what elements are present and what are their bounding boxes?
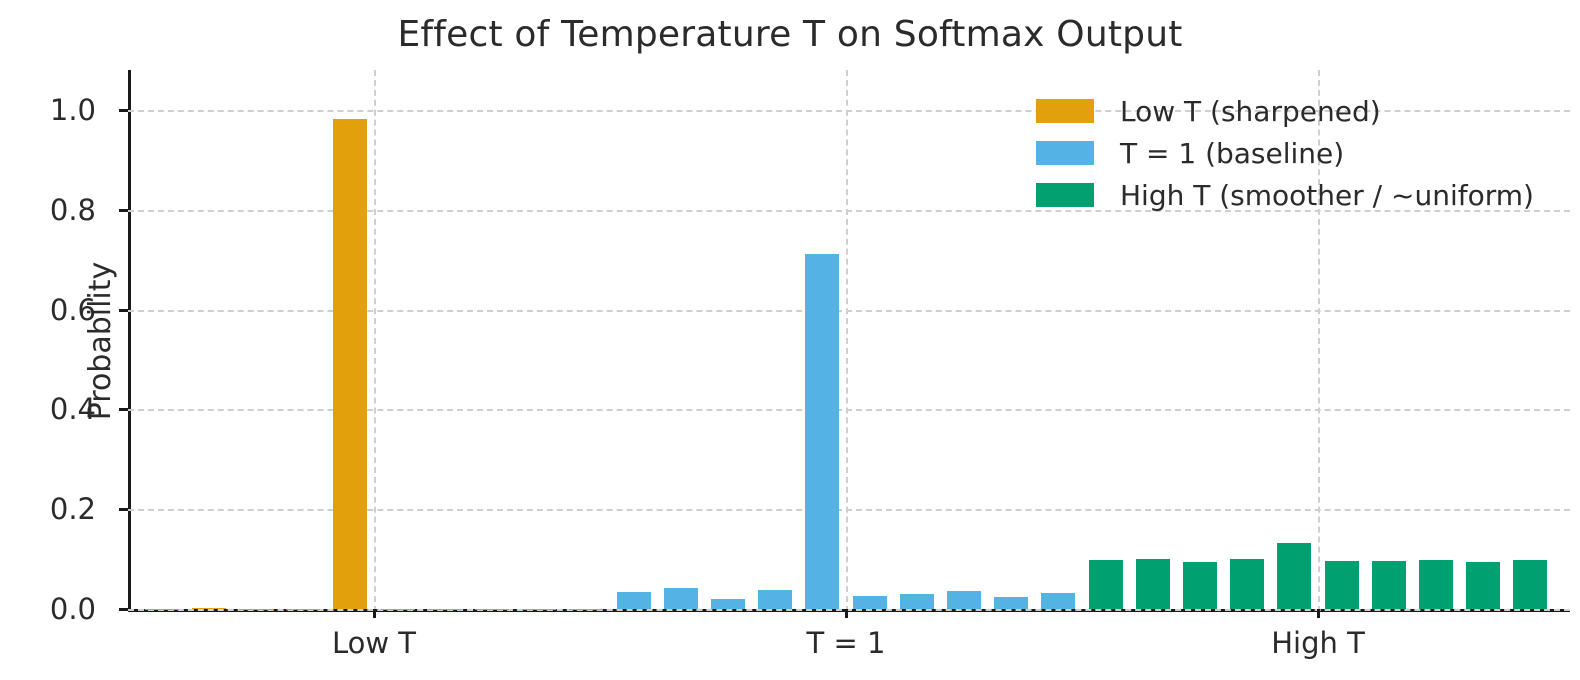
bar [617,592,651,609]
chart-legend: Low T (sharpened)T = 1 (baseline)High T … [1036,90,1556,216]
bar [1419,560,1453,609]
y-tick-mark [119,508,128,511]
bar [1183,562,1217,609]
y-axis-spine [128,70,131,612]
x-tick-mark [845,609,848,618]
bar [1466,562,1500,609]
legend-label: High T (smoother / ~uniform) [1120,179,1534,212]
bar [1277,543,1311,609]
gridline-horizontal [128,609,1570,611]
legend-label: Low T (sharpened) [1120,95,1381,128]
bar [1089,560,1123,609]
legend-item[interactable]: Low T (sharpened) [1036,90,1556,132]
y-tick-label: 1.0 [50,93,108,127]
y-tick-mark [119,109,128,112]
x-tick-label: T = 1 [807,626,886,660]
y-tick-label: 0.2 [50,492,108,526]
chart-title: Effect of Temperature T on Softmax Outpu… [0,14,1580,55]
y-tick-mark [119,408,128,411]
chart-figure: Effect of Temperature T on Softmax Outpu… [0,0,1580,680]
legend-item[interactable]: High T (smoother / ~uniform) [1036,174,1556,216]
bar [1325,561,1359,609]
bar [758,590,792,609]
legend-label: T = 1 (baseline) [1120,137,1344,170]
bar [1041,593,1075,609]
bar [947,591,981,609]
y-tick-label: 0.0 [50,592,108,626]
y-tick-mark [119,608,128,611]
x-tick-label: Low T [332,626,416,660]
y-axis-label: Probability [83,262,118,421]
bar [994,597,1028,609]
bar [1513,560,1547,609]
gridline-vertical [374,70,376,612]
legend-item[interactable]: T = 1 (baseline) [1036,132,1556,174]
bar [805,254,839,609]
x-tick-label: High T [1271,626,1365,660]
bar [711,599,745,609]
legend-swatch-icon [1036,99,1094,123]
bar [1230,559,1264,609]
y-tick-mark [119,309,128,312]
gridline-vertical [846,70,848,612]
bar [333,119,367,609]
bar [853,596,887,609]
y-tick-label: 0.8 [50,193,108,227]
legend-swatch-icon [1036,183,1094,207]
x-tick-mark [1317,609,1320,618]
bar [664,588,698,609]
legend-swatch-icon [1036,141,1094,165]
x-tick-mark [373,609,376,618]
bar [1136,559,1170,609]
bar [1372,561,1406,609]
bar [192,608,226,609]
y-tick-mark [119,209,128,212]
bar [900,594,934,609]
